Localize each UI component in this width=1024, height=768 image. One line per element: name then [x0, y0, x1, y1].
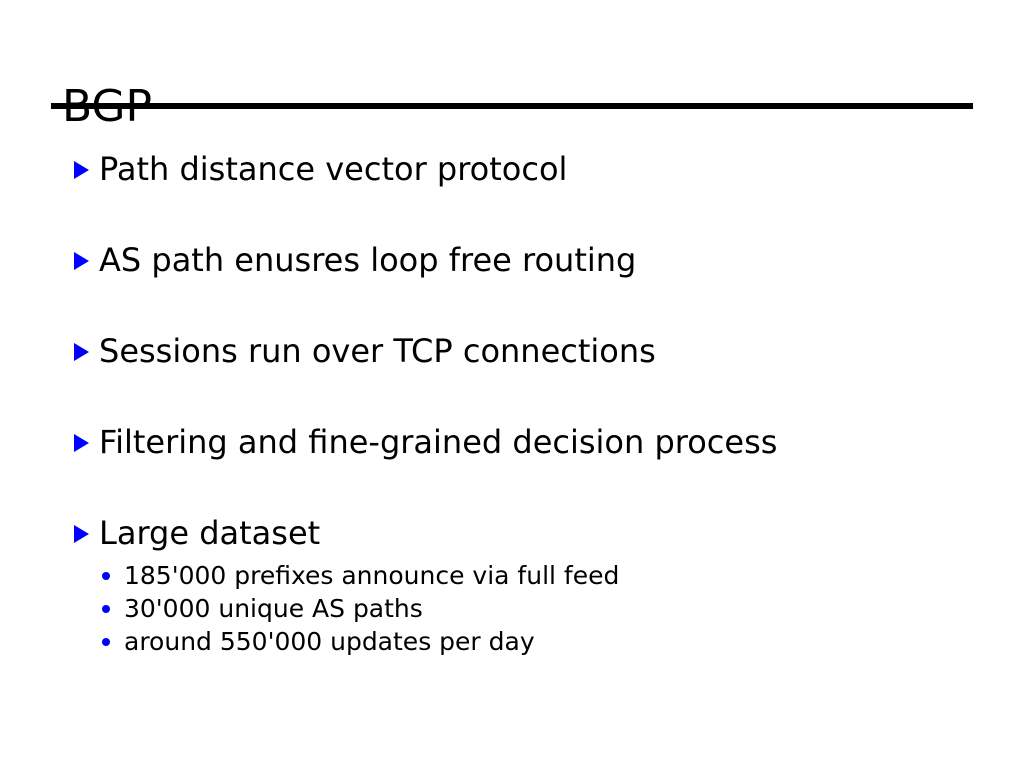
bullet-label: AS path enusres loop free routing	[99, 241, 636, 279]
sub-list-item: 30'000 unique AS paths	[102, 594, 619, 627]
list-item: Sessions run over TCP connections	[74, 332, 656, 370]
sub-bullet-list: 185'000 prefixes announce via full feed …	[102, 561, 619, 660]
bullet-label: Sessions run over TCP connections	[99, 332, 656, 370]
list-item: Path distance vector protocol	[74, 150, 567, 188]
list-item: Large dataset	[74, 514, 320, 552]
dot-icon	[102, 605, 110, 613]
list-item: Filtering and fine-grained decision proc…	[74, 423, 777, 461]
sub-bullet-label: 30'000 unique AS paths	[124, 594, 423, 624]
dot-icon	[102, 572, 110, 580]
sub-bullet-label: 185'000 prefixes announce via full feed	[124, 561, 619, 591]
title-divider	[51, 103, 973, 109]
triangle-right-icon	[74, 525, 89, 543]
sub-list-item: 185'000 prefixes announce via full feed	[102, 561, 619, 594]
dot-icon	[102, 638, 110, 646]
bullet-label: Filtering and fine-grained decision proc…	[99, 423, 777, 461]
triangle-right-icon	[74, 161, 89, 179]
bullet-label: Path distance vector protocol	[99, 150, 567, 188]
sub-list-item: around 550'000 updates per day	[102, 627, 619, 660]
triangle-right-icon	[74, 252, 89, 270]
slide-canvas: BGP Path distance vector protocol AS pat…	[0, 0, 1024, 768]
bullet-label: Large dataset	[99, 514, 320, 552]
list-item: AS path enusres loop free routing	[74, 241, 636, 279]
triangle-right-icon	[74, 343, 89, 361]
triangle-right-icon	[74, 434, 89, 452]
sub-bullet-label: around 550'000 updates per day	[124, 627, 535, 657]
